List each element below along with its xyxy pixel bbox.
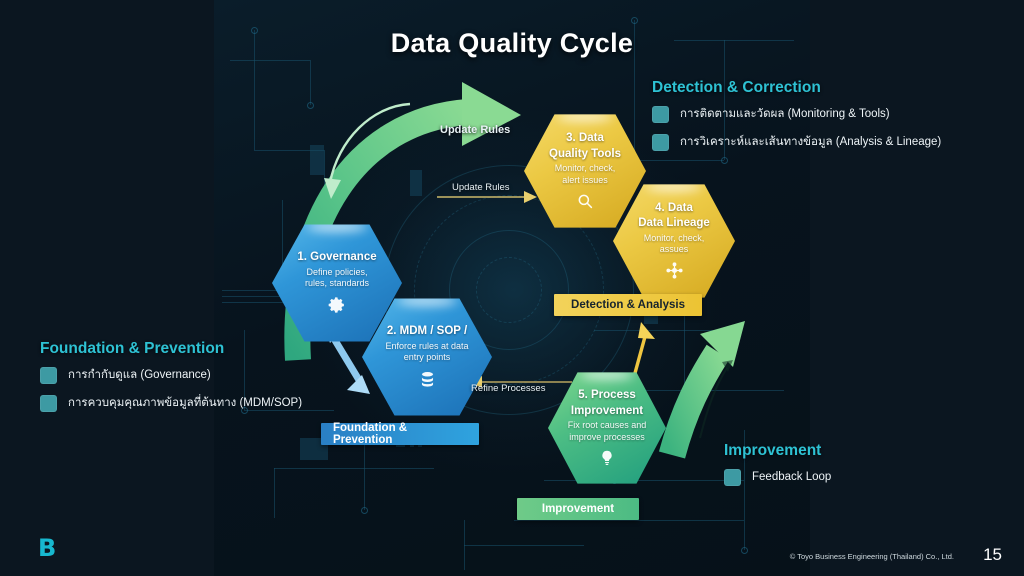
legend-item[interactable]: การวิเคราะห์และเส้นทางข้อมูล (Analysis &… — [652, 134, 941, 151]
hexagon-dqt-desc-line1: Monitor, check, — [555, 163, 616, 174]
circuit-pad — [307, 102, 314, 109]
legend-item[interactable]: การกำกับดูแล (Governance) — [40, 367, 302, 384]
banner-improvement[interactable]: Improvement — [517, 498, 639, 520]
hexagon-improvement-desc-line2: improve processes — [569, 432, 645, 443]
legend-item[interactable]: การติดตามและวัดผล (Monitoring & Tools) — [652, 106, 941, 123]
circuit-chip — [310, 145, 324, 175]
arrow-label-update-rules-small: Update Rules — [452, 182, 510, 193]
page-number: 15 — [983, 545, 1002, 565]
circuit-trace — [594, 330, 724, 331]
copyright-text: © Toyo Business Engineering (Thailand) C… — [790, 552, 954, 561]
hexagon-lineage-desc-line1: Monitor, check, — [644, 233, 705, 244]
gear-icon — [327, 295, 347, 315]
decor-ring — [476, 257, 542, 323]
slide-canvas: Data Quality Cycle 1. Governance Define … — [0, 0, 1024, 576]
banner-foundation-prevention[interactable]: Foundation & Prevention — [321, 423, 479, 445]
legend-improvement: Improvement Feedback Loop — [724, 442, 831, 497]
company-logo: B — [38, 534, 55, 562]
legend-swatch-icon — [652, 106, 669, 123]
legend-swatch-icon — [652, 134, 669, 151]
hexagon-lineage-title-line2: Data Lineage — [638, 217, 710, 231]
legend-improvement-item-0: Feedback Loop — [752, 471, 831, 485]
legend-detection-item-0: การติดตามและวัดผล (Monitoring & Tools) — [680, 108, 890, 122]
hexagon-dqt-title-line1: 3. Data — [566, 132, 604, 146]
legend-detection-item-1: การวิเคราะห์และเส้นทางข้อมูล (Analysis &… — [680, 136, 941, 150]
network-node-icon — [665, 261, 684, 280]
legend-item[interactable]: การควบคุมคุณภาพข้อมูลที่ต้นทาง (MDM/SOP) — [40, 395, 302, 412]
legend-foundation-item-0: การกำกับดูแล (Governance) — [68, 369, 211, 383]
legend-foundation-item-1: การควบคุมคุณภาพข้อมูลที่ต้นทาง (MDM/SOP) — [68, 397, 302, 411]
hexagon-governance-desc-line2: rules, standards — [305, 278, 369, 289]
legend-improvement-title: Improvement — [724, 442, 831, 460]
legend-foundation-title: Foundation & Prevention — [40, 340, 302, 358]
legend-detection-correction: Detection & Correction การติดตามและวัดผล… — [652, 79, 941, 162]
hexagon-dqt-desc-line2: alert issues — [562, 175, 608, 186]
lightbulb-icon — [598, 449, 616, 467]
legend-item[interactable]: Feedback Loop — [724, 469, 831, 486]
legend-swatch-icon — [724, 469, 741, 486]
circuit-trace — [684, 300, 685, 420]
hexagon-governance-title: 1. Governance — [297, 251, 376, 265]
legend-swatch-icon — [40, 395, 57, 412]
circuit-pad — [681, 417, 688, 424]
hexagon-improvement-desc-line1: Fix root causes and — [568, 420, 647, 431]
legend-foundation-prevention: Foundation & Prevention การกำกับดูแล (Go… — [40, 340, 302, 423]
hexagon-improvement-title-line1: 5. Process — [578, 389, 636, 403]
arrow-label-update-rules-big: Update Rules — [440, 124, 510, 136]
legend-detection-title: Detection & Correction — [652, 79, 941, 97]
hexagon-lineage-desc-line2: assues — [660, 244, 689, 255]
banner-detection-analysis[interactable]: Detection & Analysis — [554, 294, 702, 316]
circuit-trace — [544, 480, 744, 481]
circuit-trace — [310, 60, 311, 105]
hexagon-mdm-sop-desc-line2: entry points — [404, 352, 451, 363]
circuit-trace — [274, 468, 434, 469]
page-title: Data Quality Cycle — [214, 28, 810, 59]
circuit-pad — [631, 17, 638, 24]
hexagon-lineage-title-line1: 4. Data — [655, 202, 693, 216]
circuit-trace — [230, 60, 310, 61]
circuit-trace — [324, 150, 325, 210]
circuit-pad — [741, 547, 748, 554]
circuit-pad — [321, 207, 328, 214]
circuit-pad — [361, 507, 368, 514]
database-icon — [418, 370, 437, 389]
hexagon-improvement-title-line2: Improvement — [571, 405, 643, 419]
circuit-trace — [514, 520, 744, 521]
magnifier-icon — [576, 192, 594, 210]
hexagon-mdm-sop-title: 2. MDM / SOP / — [387, 325, 467, 339]
circuit-trace — [464, 545, 584, 546]
hexagon-governance-desc-line1: Define policies, — [306, 267, 367, 278]
hexagon-mdm-sop-desc-line1: Enforce rules at data — [385, 341, 468, 352]
circuit-trace — [274, 468, 275, 518]
circuit-chip — [410, 170, 422, 196]
legend-swatch-icon — [40, 367, 57, 384]
arrow-label-refine-processes: Refine Processes — [471, 383, 545, 394]
hexagon-dqt-title-line2: Quality Tools — [549, 148, 621, 162]
